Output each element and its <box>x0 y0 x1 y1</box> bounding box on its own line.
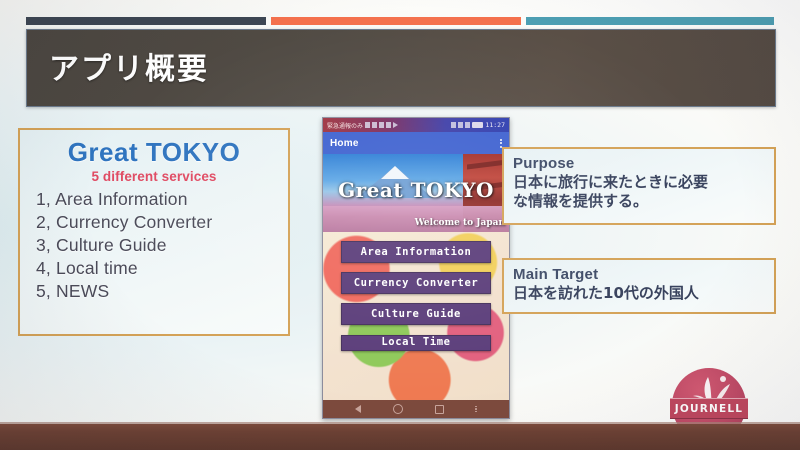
page-title: アプリ概要 <box>49 44 209 88</box>
services-panel: Great TOKYO 5 different services 1, Area… <box>18 128 290 336</box>
info-card-purpose: Purpose 日本に旅行に来たときに必要 な情報を提供する。 <box>502 147 776 225</box>
phone-mockup: 緊急通報のみ 11:27 Home <box>322 117 510 419</box>
logo-ribbon: JOURNELL <box>670 398 748 419</box>
android-status-bar: 緊急通報のみ 11:27 <box>323 118 509 132</box>
home-icon[interactable] <box>393 404 403 414</box>
menu-button-culture-guide[interactable]: Culture Guide <box>341 303 491 325</box>
accent-bar-dark <box>26 17 266 25</box>
android-navigation-bar <box>323 400 509 418</box>
status-bar-right: 11:27 <box>451 121 505 129</box>
signal-icon <box>451 122 456 128</box>
status-bar-left: 緊急通報のみ <box>327 121 398 130</box>
menu-button-currency-converter[interactable]: Currency Converter <box>341 272 491 294</box>
lock-icon <box>465 122 470 128</box>
usb-icon <box>379 122 384 128</box>
services-list: 1, Area Information 2, Currency Converte… <box>20 188 288 303</box>
slide-title-band: アプリ概要 <box>26 29 776 107</box>
brand-name: JOURNELL <box>675 403 743 415</box>
app-menu-area: Area Information Currency Converter Cult… <box>323 232 509 400</box>
info-card-line-1: 日本を訪れた10代の外国人 <box>513 284 765 302</box>
menu-button-local-time[interactable]: Local Time <box>341 335 491 351</box>
menu-button-area-information[interactable]: Area Information <box>341 241 491 263</box>
app-action-bar: Home <box>323 132 509 154</box>
info-card-line-2: な情報を提供する。 <box>513 192 765 210</box>
app-name-heading: Great TOKYO <box>20 137 288 168</box>
info-card-main-target: Main Target 日本を訪れた10代の外国人 <box>502 258 776 314</box>
accent-bar-group <box>26 17 774 25</box>
presentation-slide: アプリ概要 Great TOKYO 5 different services 1… <box>0 0 800 450</box>
app-bar-title: Home <box>330 138 359 149</box>
hero-title: Great TOKYO <box>323 178 509 202</box>
nav-overflow-icon[interactable] <box>475 406 477 413</box>
services-subtitle: 5 different services <box>20 169 288 184</box>
list-item: 3, Culture Guide <box>36 234 288 257</box>
wifi-icon <box>458 122 463 128</box>
recents-icon[interactable] <box>435 405 444 414</box>
hero-banner: Great TOKYO Welcome to Japan <box>323 154 509 232</box>
hero-subtitle: Welcome to Japan <box>415 218 505 228</box>
info-card-heading: Purpose <box>513 155 765 173</box>
list-item: 2, Currency Converter <box>36 211 288 234</box>
alarm-icon <box>386 122 391 128</box>
list-item: 4, Local time <box>36 257 288 280</box>
accent-bar-teal <box>526 17 774 25</box>
info-card-line-1: 日本に旅行に来たときに必要 <box>513 173 765 191</box>
info-card-heading: Main Target <box>513 266 765 284</box>
list-item: 5, NEWS <box>36 280 288 303</box>
carrier-label: 緊急通報のみ <box>327 121 363 130</box>
clock-label: 11:27 <box>485 121 505 129</box>
back-icon[interactable] <box>355 405 361 413</box>
play-icon <box>393 122 398 128</box>
accent-bar-orange <box>271 17 521 25</box>
battery-icon <box>472 122 483 128</box>
sim-icon <box>365 122 370 128</box>
list-item: 1, Area Information <box>36 188 288 211</box>
sd-card-icon <box>372 122 377 128</box>
bottom-brown-band <box>0 424 800 450</box>
